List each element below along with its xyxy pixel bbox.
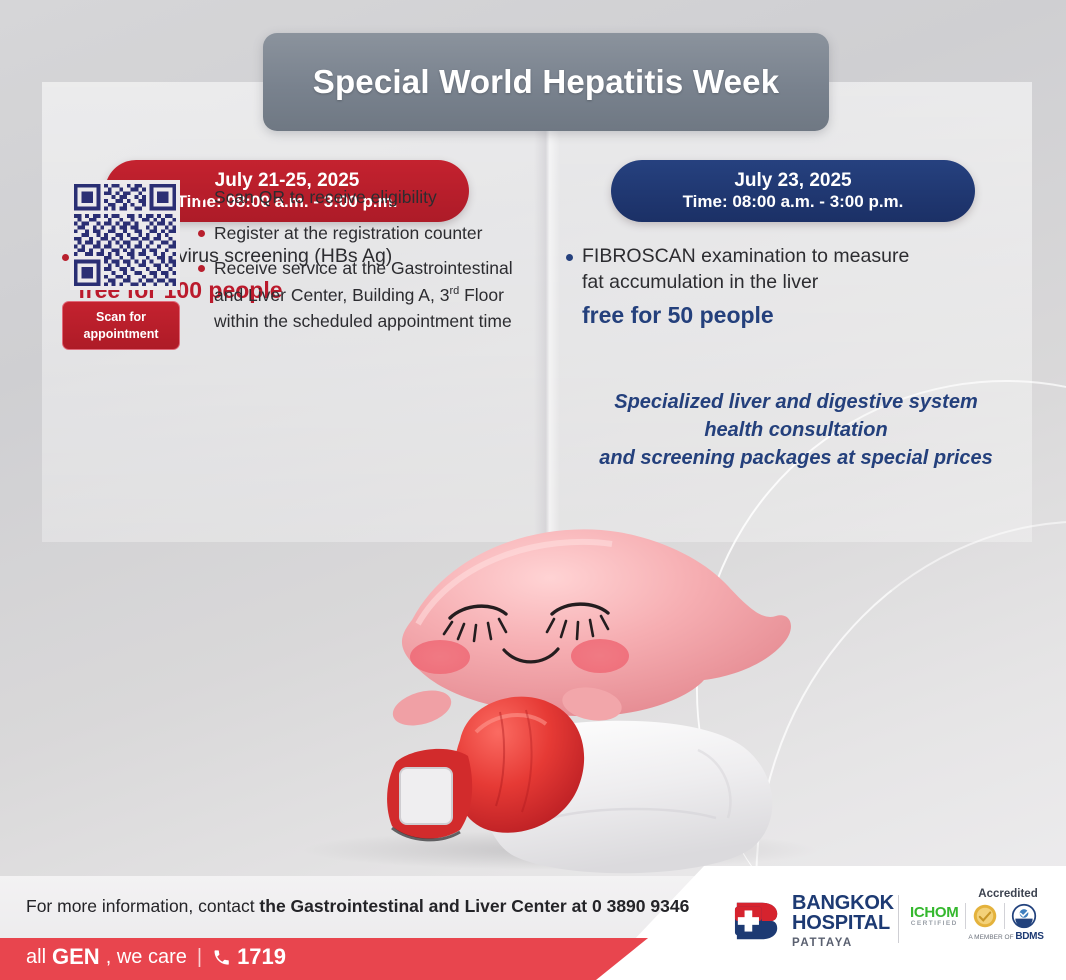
accreditation-row: ICHOM CERTIFIED <box>910 903 1060 929</box>
logo-divider <box>898 895 899 943</box>
right-time: Time: 08:00 a.m. - 3:00 p.m. <box>683 192 904 213</box>
bullet-dot-icon <box>198 265 205 272</box>
scan-button-line2: appointment <box>63 326 179 343</box>
step-3-line2a: and Liver Center, Building A, 3 <box>214 285 449 305</box>
step-3-text: Receive service at the Gastrointestinal … <box>214 255 513 335</box>
slogan-separator: | <box>197 946 202 969</box>
right-service-line2: fat accumulation in the liver <box>582 271 818 293</box>
logo-wordmark: BANGKOK HOSPITAL PATTAYA <box>792 893 894 949</box>
tagline-line2: health consultation <box>566 416 1026 444</box>
tagline-line3: and screening packages at special prices <box>566 444 1026 472</box>
steps-list: Scan QR to receive eligibility Register … <box>198 180 513 350</box>
step-3-line2b: Floor <box>459 285 504 305</box>
title-banner: Special World Hepatitis Week <box>263 33 829 131</box>
accredited-label: Accredited <box>956 888 1060 900</box>
scan-for-appointment-button[interactable]: Scan for appointment <box>62 301 180 350</box>
bullet-dot-icon <box>198 230 205 237</box>
right-free-text: free for 50 people <box>582 302 1026 329</box>
right-service-line1: FIBROSCAN examination to measure <box>582 245 909 267</box>
hotline-number[interactable]: 1719 <box>237 944 286 970</box>
step-3-line3: within the scheduled appointment time <box>214 311 512 331</box>
qr-left: Scan for appointment <box>62 180 188 350</box>
tagline-line1: Specialized liver and digestive system <box>566 388 1026 416</box>
scan-button-line1: Scan for <box>63 309 179 326</box>
phone-icon <box>212 948 231 967</box>
logo-line2: HOSPITAL <box>792 913 894 933</box>
page-title: Special World Hepatitis Week <box>313 63 780 101</box>
qr-block: Scan for appointment Scan QR to receive … <box>62 180 532 350</box>
qr-code-icon[interactable] <box>70 180 180 290</box>
ichom-name: ICHOM <box>910 904 959 921</box>
tagline: Specialized liver and digestive system h… <box>566 388 1026 472</box>
step-3-line1: Receive service at the Gastrointestinal <box>214 258 513 278</box>
hospital-logo: BANGKOK HOSPITAL PATTAYA <box>733 893 894 949</box>
right-date-badge: July 23, 2025 Time: 08:00 a.m. - 3:00 p.… <box>611 160 975 222</box>
slogan-prefix: all <box>26 946 46 969</box>
logo-line1: BANGKOK <box>792 893 894 913</box>
poster: Special World Hepatitis Week July 21-25,… <box>0 0 1066 980</box>
accred-divider <box>1004 903 1005 929</box>
slogan-text: all GEN, we care | 1719 <box>26 944 286 970</box>
bdms-prefix: A MEMBER OF <box>968 934 1015 941</box>
ichom-logo: ICHOM CERTIFIED <box>910 905 959 928</box>
list-item: Scan QR to receive eligibility <box>198 184 513 211</box>
contact-prefix: For more information, contact <box>26 896 259 916</box>
step-3-ordinal: rd <box>449 285 459 297</box>
slogan-brand: GEN <box>52 944 100 970</box>
list-item: Register at the registration counter <box>198 220 513 247</box>
bangkok-hospital-cross-logo-icon <box>733 897 783 945</box>
right-column: July 23, 2025 Time: 08:00 a.m. - 3:00 p.… <box>566 160 1026 329</box>
right-service-text: FIBROSCAN examination to measure fat acc… <box>582 244 909 295</box>
bdms-member-label: A MEMBER OF BDMS <box>952 931 1060 942</box>
right-service-row: FIBROSCAN examination to measure fat acc… <box>566 244 1026 295</box>
bdms-brand: BDMS <box>1015 931 1043 942</box>
step-1-text: Scan QR to receive eligibility <box>214 184 437 211</box>
bullet-dot-icon <box>198 194 205 201</box>
jci-seal-icon <box>1011 903 1037 929</box>
panel-fold-divider <box>534 82 560 542</box>
list-item: Receive service at the Gastrointestinal … <box>198 255 513 335</box>
right-date: July 23, 2025 <box>734 169 851 192</box>
liver-mascot-illustration <box>300 500 820 880</box>
accreditation-block: Accredited ICHOM CERTIFIED A MEMBER OF B… <box>910 888 1060 942</box>
logo-line3: PATTAYA <box>792 937 894 949</box>
slogan-suffix: , we care <box>106 946 187 969</box>
step-2-text: Register at the registration counter <box>214 220 482 247</box>
gold-seal-icon <box>972 903 998 929</box>
contact-line: For more information, contact the Gastro… <box>26 896 686 917</box>
ichom-sub: CERTIFIED <box>910 921 959 928</box>
accred-divider <box>965 903 966 929</box>
bullet-dot-icon <box>566 254 573 261</box>
contact-details: the Gastrointestinal and Liver Center at… <box>259 896 689 916</box>
